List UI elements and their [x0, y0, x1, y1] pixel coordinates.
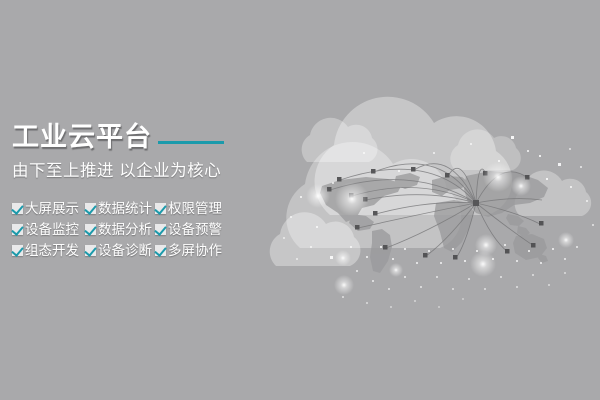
feature-item-permission-management[interactable]: 权限管理 [155, 198, 243, 219]
feature-item-data-statistics[interactable]: 数据统计 [85, 198, 155, 219]
feature-label: 设备预警 [168, 222, 222, 237]
feature-item-configuration-development[interactable]: 组态开发 [12, 240, 85, 261]
feature-label: 数据统计 [98, 201, 152, 216]
check-mark-icon [155, 224, 166, 235]
page-subtitle: 由下至上推进 以企业为核心 [12, 160, 292, 182]
feature-item-device-monitoring[interactable]: 设备监控 [12, 219, 85, 240]
check-mark-icon [85, 245, 96, 256]
feature-item-device-early-warning[interactable]: 设备预警 [155, 219, 243, 240]
hero-text-block: 工业云平台 由下至上推进 以企业为核心 大屏展示 数据统计 权限管理 设备监控 [12, 118, 292, 261]
check-mark-icon [12, 203, 23, 214]
check-mark-icon [155, 245, 166, 256]
feature-label: 权限管理 [168, 201, 222, 216]
check-mark-icon [12, 224, 23, 235]
page-title: 工业云平台 [12, 122, 152, 152]
feature-label: 设备诊断 [98, 243, 152, 258]
check-mark-icon [85, 224, 96, 235]
check-mark-icon [85, 203, 96, 214]
check-mark-icon [12, 245, 23, 256]
feature-item-big-screen-display[interactable]: 大屏展示 [12, 198, 85, 219]
feature-item-data-analysis[interactable]: 数据分析 [85, 219, 155, 240]
feature-label: 数据分析 [98, 222, 152, 237]
feature-item-device-diagnosis[interactable]: 设备诊断 [85, 240, 155, 261]
title-underline-rule [158, 141, 224, 144]
feature-label: 多屏协作 [168, 243, 222, 258]
check-mark-icon [155, 203, 166, 214]
title-row: 工业云平台 [12, 118, 292, 152]
feature-item-multi-screen-collaboration[interactable]: 多屏协作 [155, 240, 243, 261]
feature-label: 大屏展示 [25, 201, 79, 216]
feature-label: 设备监控 [25, 222, 79, 237]
feature-checklist: 大屏展示 数据统计 权限管理 设备监控 数据分析 设备预警 [12, 198, 292, 261]
feature-label: 组态开发 [25, 243, 79, 258]
hero-banner: 工业云平台 由下至上推进 以企业为核心 大屏展示 数据统计 权限管理 设备监控 [0, 0, 600, 400]
